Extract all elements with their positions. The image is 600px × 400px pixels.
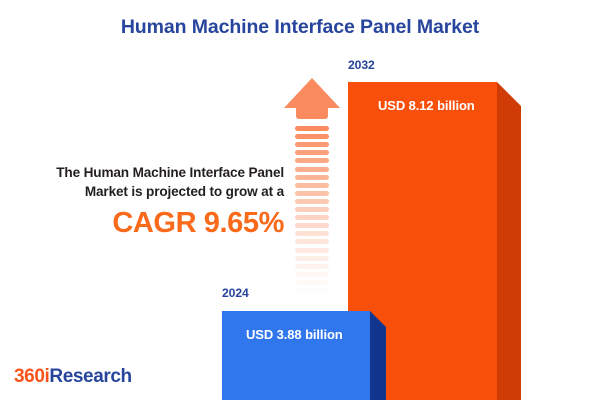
bar-value-2032: USD 8.12 billion (378, 98, 475, 113)
summary-text-block: The Human Machine Interface Panel Market… (12, 163, 284, 240)
arrow-head-shape (284, 78, 340, 108)
arrow-segment (295, 134, 329, 139)
arrow-segment (295, 256, 329, 261)
logo-part-360: 360 (14, 366, 45, 387)
page-title: Human Machine Interface Panel Market (0, 16, 600, 39)
summary-line-1: The Human Machine Interface Panel (12, 163, 284, 182)
arrow-segment (295, 272, 329, 277)
bar-label-2032: 2032 (348, 58, 375, 72)
arrow-segment (295, 288, 329, 293)
bar-2032-side (497, 82, 521, 400)
arrow-segment (295, 126, 329, 131)
up-arrow-icon (284, 78, 340, 302)
arrow-segment (295, 296, 329, 301)
brand-logo[interactable]: 360iResearch (14, 366, 132, 388)
arrow-segment (295, 223, 329, 228)
arrow-segment (295, 231, 329, 236)
arrow-segment (295, 264, 329, 269)
cagr-value: CAGR 9.65% (12, 206, 284, 240)
arrow-segment (295, 215, 329, 220)
arrow-segment (295, 199, 329, 204)
arrow-segment (295, 158, 329, 163)
logo-part-research: Research (49, 366, 131, 387)
arrow-segment (295, 183, 329, 188)
arrow-segment (295, 248, 329, 253)
bar-label-2024: 2024 (222, 286, 249, 300)
bar-2024-face (222, 311, 370, 400)
arrow-segment (295, 280, 329, 285)
arrow-segment (295, 150, 329, 155)
arrow-segment (295, 191, 329, 196)
arrow-segment (295, 175, 329, 180)
bar-2024 (222, 311, 386, 400)
arrow-segment (295, 207, 329, 212)
arrow-segment (295, 239, 329, 244)
bar-value-2024: USD 3.88 billion (246, 327, 343, 342)
arrow-neck-shape (296, 107, 328, 119)
arrow-segment (295, 167, 329, 172)
infographic-canvas: Human Machine Interface Panel Market The… (0, 0, 600, 400)
bar-2024-side (370, 311, 386, 400)
summary-line-2: Market is projected to grow at a (12, 182, 284, 201)
arrow-segment (295, 142, 329, 147)
